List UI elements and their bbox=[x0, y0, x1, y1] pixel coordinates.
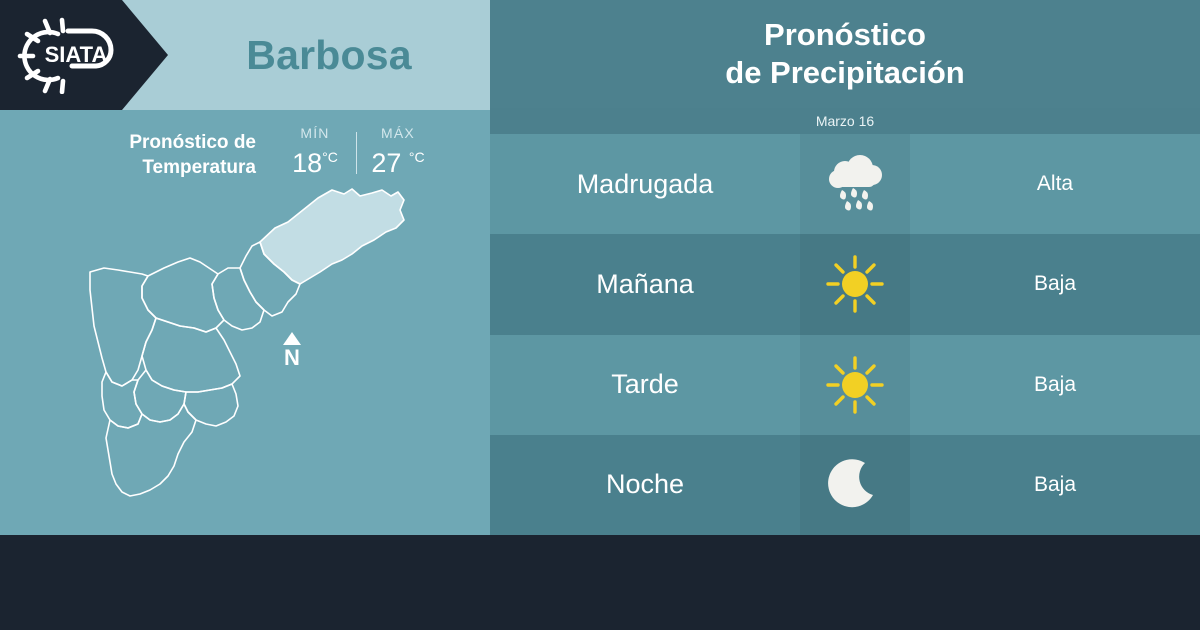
min-value: 18 bbox=[292, 148, 322, 178]
max-value-wrap: 27 °C bbox=[371, 142, 424, 179]
precipitation-level: Baja bbox=[910, 335, 1200, 435]
precipitation-level: Baja bbox=[910, 234, 1200, 334]
weather-icon-cell bbox=[800, 335, 910, 435]
period-label: Tarde bbox=[490, 335, 800, 435]
right-panel: Pronóstico de Precipitación Marzo 16 Mad… bbox=[490, 0, 1200, 535]
table-row: Tarde bbox=[490, 335, 1200, 435]
footer: @siatamedellin www.siata.gov.co Con el a… bbox=[0, 535, 1200, 630]
temperature-block: Pronóstico de Temperatura MÍN 18°C MÁX 2… bbox=[70, 124, 470, 184]
rain-cloud-icon bbox=[822, 154, 888, 214]
weather-forecast-poster: SIATA Barbosa Pronóstico de Temperatura … bbox=[0, 0, 1200, 630]
temperature-min: MÍN 18°C bbox=[278, 124, 352, 179]
sun-icon bbox=[824, 253, 886, 315]
table-row: Noche Baja bbox=[490, 435, 1200, 535]
moon-icon bbox=[827, 457, 883, 513]
city-title: Barbosa bbox=[168, 0, 490, 110]
aburra-valley-map bbox=[60, 180, 460, 530]
forecast-title-line1: Pronóstico bbox=[764, 17, 926, 52]
weather-icon-cell bbox=[800, 234, 910, 334]
map-svg bbox=[60, 180, 460, 530]
weather-icon-cell bbox=[800, 134, 910, 234]
period-label: Noche bbox=[490, 435, 800, 535]
table-row: Madrugada bbox=[490, 134, 1200, 234]
min-value-wrap: 18°C bbox=[292, 142, 338, 179]
period-label: Mañana bbox=[490, 234, 800, 334]
min-unit: °C bbox=[322, 149, 338, 165]
forecast-date: Marzo 16 bbox=[490, 108, 1200, 134]
temperature-title: Pronóstico de Temperatura bbox=[70, 124, 256, 180]
left-header: SIATA Barbosa bbox=[0, 0, 490, 110]
sun-cloud-icon: SIATA bbox=[14, 16, 138, 94]
temperature-title-line1: Pronóstico de bbox=[129, 132, 256, 153]
forecast-header: Pronóstico de Precipitación bbox=[490, 0, 1200, 108]
temperature-divider bbox=[356, 132, 357, 174]
period-label: Madrugada bbox=[490, 134, 800, 234]
temperature-max: MÁX 27 °C bbox=[361, 124, 435, 179]
max-value: 27 bbox=[371, 148, 401, 178]
max-unit: °C bbox=[409, 149, 425, 165]
temperature-values: MÍN 18°C MÁX 27 °C bbox=[278, 124, 435, 179]
forecast-table: Madrugada bbox=[490, 134, 1200, 535]
temperature-title-line2: Temperatura bbox=[142, 157, 256, 178]
north-arrow-icon bbox=[283, 332, 301, 345]
table-row: Mañana bbox=[490, 234, 1200, 334]
siata-logo: SIATA bbox=[14, 16, 138, 94]
svg-text:SIATA: SIATA bbox=[45, 42, 108, 67]
forecast-title-line2: de Precipitación bbox=[725, 55, 964, 90]
left-panel: SIATA Barbosa Pronóstico de Temperatura … bbox=[0, 0, 490, 535]
north-arrow: N bbox=[276, 332, 308, 378]
max-label: MÁX bbox=[381, 124, 415, 142]
min-label: MÍN bbox=[300, 124, 329, 142]
sun-icon bbox=[824, 354, 886, 416]
north-label: N bbox=[284, 346, 300, 370]
precipitation-level: Baja bbox=[910, 435, 1200, 535]
precipitation-level: Alta bbox=[910, 134, 1200, 234]
weather-icon-cell bbox=[800, 435, 910, 535]
forecast-title: Pronóstico de Precipitación bbox=[725, 16, 964, 92]
